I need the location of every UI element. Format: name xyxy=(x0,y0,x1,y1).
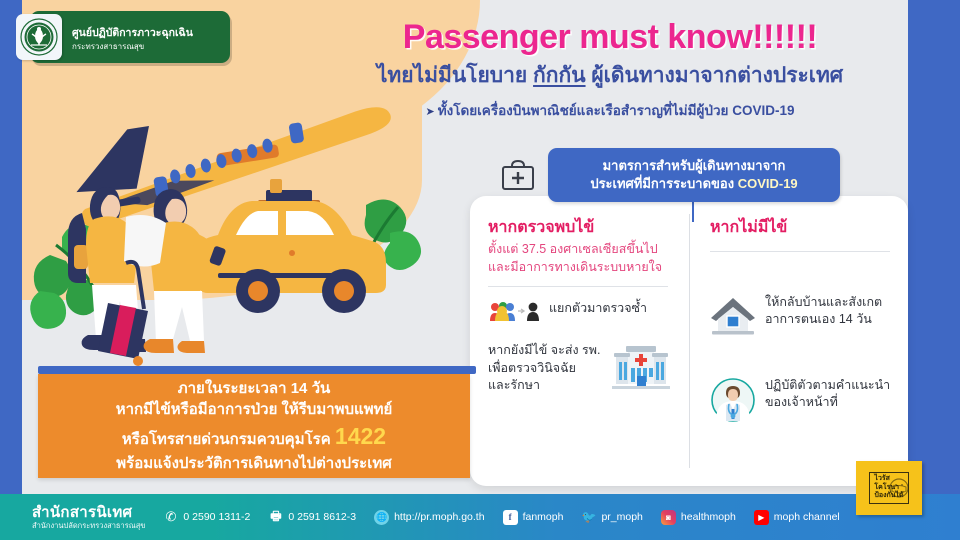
website-icon: 🌐 xyxy=(374,510,389,525)
footer-contact-instagram[interactable]: ◙ healthmoph xyxy=(661,510,736,525)
footer-bar: สำนักสารนิเทศ สำนักงานปลัดกระทรวงสาธารณส… xyxy=(0,494,960,540)
facebook-icon: f xyxy=(503,510,518,525)
home-text-line-2: อาการตนเอง 14 วัน xyxy=(765,312,872,326)
fever-item-isolate-text: แยกตัวมาตรวจซ้ำ xyxy=(549,300,647,318)
footer-contact-youtube[interactable]: ▶ moph channel xyxy=(754,510,840,525)
advisory-text: ภายในระยะเวลา 14 วัน หากมีไข้หรือมีอาการ… xyxy=(116,378,393,475)
measures-banner-text: มาตรการสำหรับผู้เดินทางมาจาก ประเทศที่มี… xyxy=(590,157,797,192)
no-fever-item-advice-text: ปฏิบัติตัวตามคำแนะนำ ของเจ้าหน้าที่ xyxy=(765,377,890,412)
measures-line-2-before: ประเทศที่มีการระบาดของ xyxy=(590,176,737,191)
measures-line-1: มาตรการสำหรับผู้เดินทางมาจาก xyxy=(603,158,786,173)
covid-prevention-badge: ไวรัส โคโรนา ป้องกันได้ xyxy=(856,461,922,515)
footer-contact-facebook[interactable]: f fanmoph xyxy=(503,510,564,525)
hotline-number: 1422 xyxy=(335,423,386,449)
no-fever-column: หากไม่มีไข้ ให้กลับบ้านและสังเกต อาการตน… xyxy=(686,196,908,486)
fever-column: หากตรวจพบไข้ ตั้งแต่ 37.5 องศาเซลเซียสขึ… xyxy=(470,196,686,486)
fever-sub-line-1: ตั้งแต่ 37.5 องศาเซลเซียสขึ้นไป xyxy=(488,242,658,256)
footer-org-sub: สำนักงานปลัดกระทรวงสาธารณสุข xyxy=(32,522,145,530)
footer-twitter-label: pr_moph xyxy=(601,511,642,523)
left-blue-rail xyxy=(0,0,22,508)
advisory-line-2: หากมีไข้หรือมีอาการป่วย ให้รีบมาพบแพทย์ xyxy=(116,401,393,418)
footer-phone-label: 0 2590 1311-2 xyxy=(183,511,250,523)
advisory-orange-box: ภายในระยะเวลา 14 วัน หากมีไข้หรือมีอาการ… xyxy=(38,374,470,478)
headline-third-line: ➤ทั้งโดยเครื่องบินพาณิชย์และเรือสำราญที่… xyxy=(330,99,890,121)
arrow-bullet-icon: ➤ xyxy=(426,106,435,118)
badge-inner-frame: ไวรัส โคโรนา ป้องกันได้ xyxy=(869,472,908,504)
advice-text-line-2: ของเจ้าหน้าที่ xyxy=(765,395,838,409)
no-fever-divider xyxy=(710,251,890,252)
orange-box-top-strip xyxy=(38,366,476,374)
hospital-icon xyxy=(612,340,670,397)
no-fever-item-home: ให้กลับบ้านและสังเกต อาการตนเอง 14 วัน xyxy=(710,294,892,341)
footer-contact-fax: 🖶 0 2591 8612-3 xyxy=(268,510,356,525)
footer-facebook-label: fanmoph xyxy=(523,511,564,523)
fever-sub-line-2: และมีอาการทางเดินระบบหายใจ xyxy=(488,260,662,274)
measures-banner: มาตรการสำหรับผู้เดินทางมาจาก ประเทศที่มี… xyxy=(548,148,840,202)
phone-icon: ✆ xyxy=(163,510,178,525)
travelers-illustration xyxy=(22,95,452,370)
taxi-car-icon xyxy=(198,179,386,313)
masked-face-icon xyxy=(888,477,910,499)
medical-kit-icon xyxy=(498,155,538,200)
right-blue-rail xyxy=(908,0,960,510)
instagram-icon: ◙ xyxy=(661,510,676,525)
fever-column-subtitle: ตั้งแต่ 37.5 องศาเซลเซียสขึ้นไป และมีอาก… xyxy=(488,240,670,276)
no-fever-item-advice: ปฏิบัติตัวตามคำแนะนำ ของเจ้าหน้าที่ xyxy=(710,377,892,428)
advisory-line-4: พร้อมแจ้งประวัติการเดินทางไปต่างประเทศ xyxy=(116,455,391,472)
footer-contact-phone: ✆ 0 2590 1311-2 xyxy=(163,510,250,525)
no-fever-column-title: หากไม่มีไข้ xyxy=(710,218,892,239)
advice-text-line-1: ปฏิบัติตัวตามคำแนะนำ xyxy=(765,378,890,392)
headline-block: Passenger must know!!!!!! ไทยไม่มีนโยบาย… xyxy=(330,18,890,121)
footer-contact-website[interactable]: 🌐 http://pr.moph.go.th xyxy=(374,510,484,525)
footer-instagram-label: healthmoph xyxy=(681,511,736,523)
advisory-line-1: ภายในระยะเวลา 14 วัน xyxy=(178,380,331,397)
house-icon xyxy=(710,294,756,341)
fax-icon: 🖶 xyxy=(268,510,283,525)
crowd-to-individual-icon xyxy=(488,300,540,327)
fever-item-hospital: หากยังมีไข้ จะส่ง รพ. เพื่อตรวจวินิจฉัย … xyxy=(488,340,670,397)
headline-third-text: ทั้งโดยเครื่องบินพาณิชย์และเรือสำราญที่ไ… xyxy=(438,103,795,118)
footer-org-block: สำนักสารนิเทศ สำนักงานปลัดกระทรวงสาธารณส… xyxy=(32,505,145,530)
footer-contact-twitter[interactable]: 🐦 pr_moph xyxy=(581,510,642,525)
fever-divider xyxy=(488,286,668,287)
no-fever-item-home-text: ให้กลับบ้านและสังเกต อาการตนเอง 14 วัน xyxy=(765,294,882,329)
hospital-text-line-2: เพื่อตรวจวินิจฉัย xyxy=(488,361,576,375)
headline-sub-before: ไทยไม่มีนโยบาย xyxy=(377,64,533,87)
fever-column-title: หากตรวจพบไข้ xyxy=(488,218,670,239)
measures-card: หากตรวจพบไข้ ตั้งแต่ 37.5 องศาเซลเซียสขึ… xyxy=(470,196,908,486)
footer-fax-label: 0 2591 8612-3 xyxy=(288,511,356,523)
banner-connector-line xyxy=(692,200,694,222)
doctor-icon xyxy=(710,377,756,428)
headline-sub-underlined: กักกัน xyxy=(533,64,586,87)
logo-line-1: ศูนย์ปฏิบัติการภาวะฉุกเฉิน xyxy=(72,27,193,39)
headline-sub-after: ผู้เดินทางมาจากต่างประเทศ xyxy=(586,64,844,87)
logo-text-block: ศูนย์ปฏิบัติการภาวะฉุกเฉิน กระทรวงสาธารณ… xyxy=(72,23,193,51)
fever-item-isolate: แยกตัวมาตรวจซ้ำ xyxy=(488,300,670,327)
infographic-poster: ศูนย์ปฏิบัติการภาวะฉุกเฉิน กระทรวงสาธารณ… xyxy=(0,0,960,540)
twitter-icon: 🐦 xyxy=(581,510,596,525)
moph-emblem-icon xyxy=(16,14,62,60)
page-title: Passenger must know!!!!!! xyxy=(330,18,890,57)
advisory-line-3: หรือโทรสายด่วนกรมควบคุมโรค xyxy=(122,431,335,448)
footer-website-label: http://pr.moph.go.th xyxy=(394,511,484,523)
hospital-text-line-3: และรักษา xyxy=(488,378,540,392)
youtube-icon: ▶ xyxy=(754,510,769,525)
hospital-text-line-1: หากยังมีไข้ จะส่ง รพ. xyxy=(488,343,600,357)
covid-label: COVID-19 xyxy=(738,176,798,191)
fever-item-hospital-text: หากยังมีไข้ จะส่ง รพ. เพื่อตรวจวินิจฉัย … xyxy=(488,342,603,395)
home-text-line-1: ให้กลับบ้านและสังเกต xyxy=(765,295,882,309)
moph-logo-banner: ศูนย์ปฏิบัติการภาวะฉุกเฉิน กระทรวงสาธารณ… xyxy=(30,11,230,63)
footer-youtube-label: moph channel xyxy=(774,511,840,523)
logo-line-2: กระทรวงสาธารณสุข xyxy=(72,42,193,51)
headline-subtitle: ไทยไม่มีนโยบาย กักกัน ผู้เดินทางมาจากต่า… xyxy=(330,59,890,92)
footer-org-name: สำนักสารนิเทศ xyxy=(32,504,132,521)
